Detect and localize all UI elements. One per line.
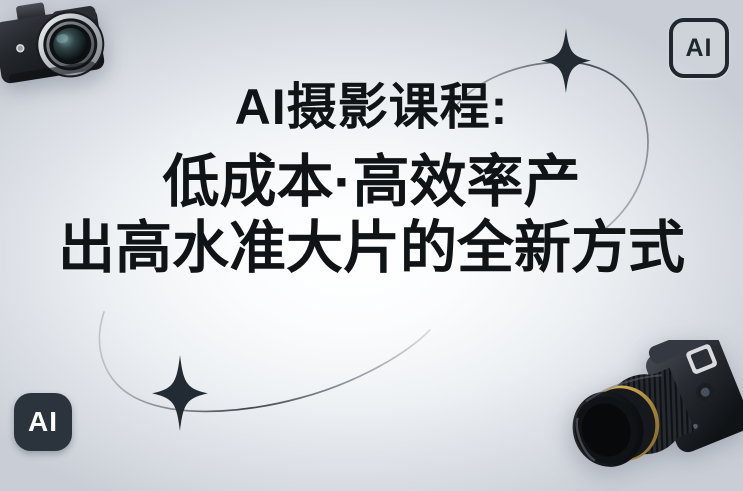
ai-badge-bottom-left[interactable]: AI — [14, 393, 72, 451]
ai-badge-top-right-label: AI — [686, 34, 713, 63]
title-block: AI摄影课程: 低成本·高效率产 出高水准大片的全新方式 — [0, 0, 743, 491]
ai-badge-top-right[interactable]: AI — [669, 18, 729, 78]
title-line-3: 出高水准大片的全新方式 — [58, 216, 685, 280]
poster-canvas: AI摄影课程: 低成本·高效率产 出高水准大片的全新方式 AI AI — [0, 0, 743, 491]
title-line-2: 低成本·高效率产 — [163, 150, 581, 214]
title-line-1: AI摄影课程: — [235, 78, 509, 136]
ai-badge-bottom-left-label: AI — [28, 406, 58, 438]
